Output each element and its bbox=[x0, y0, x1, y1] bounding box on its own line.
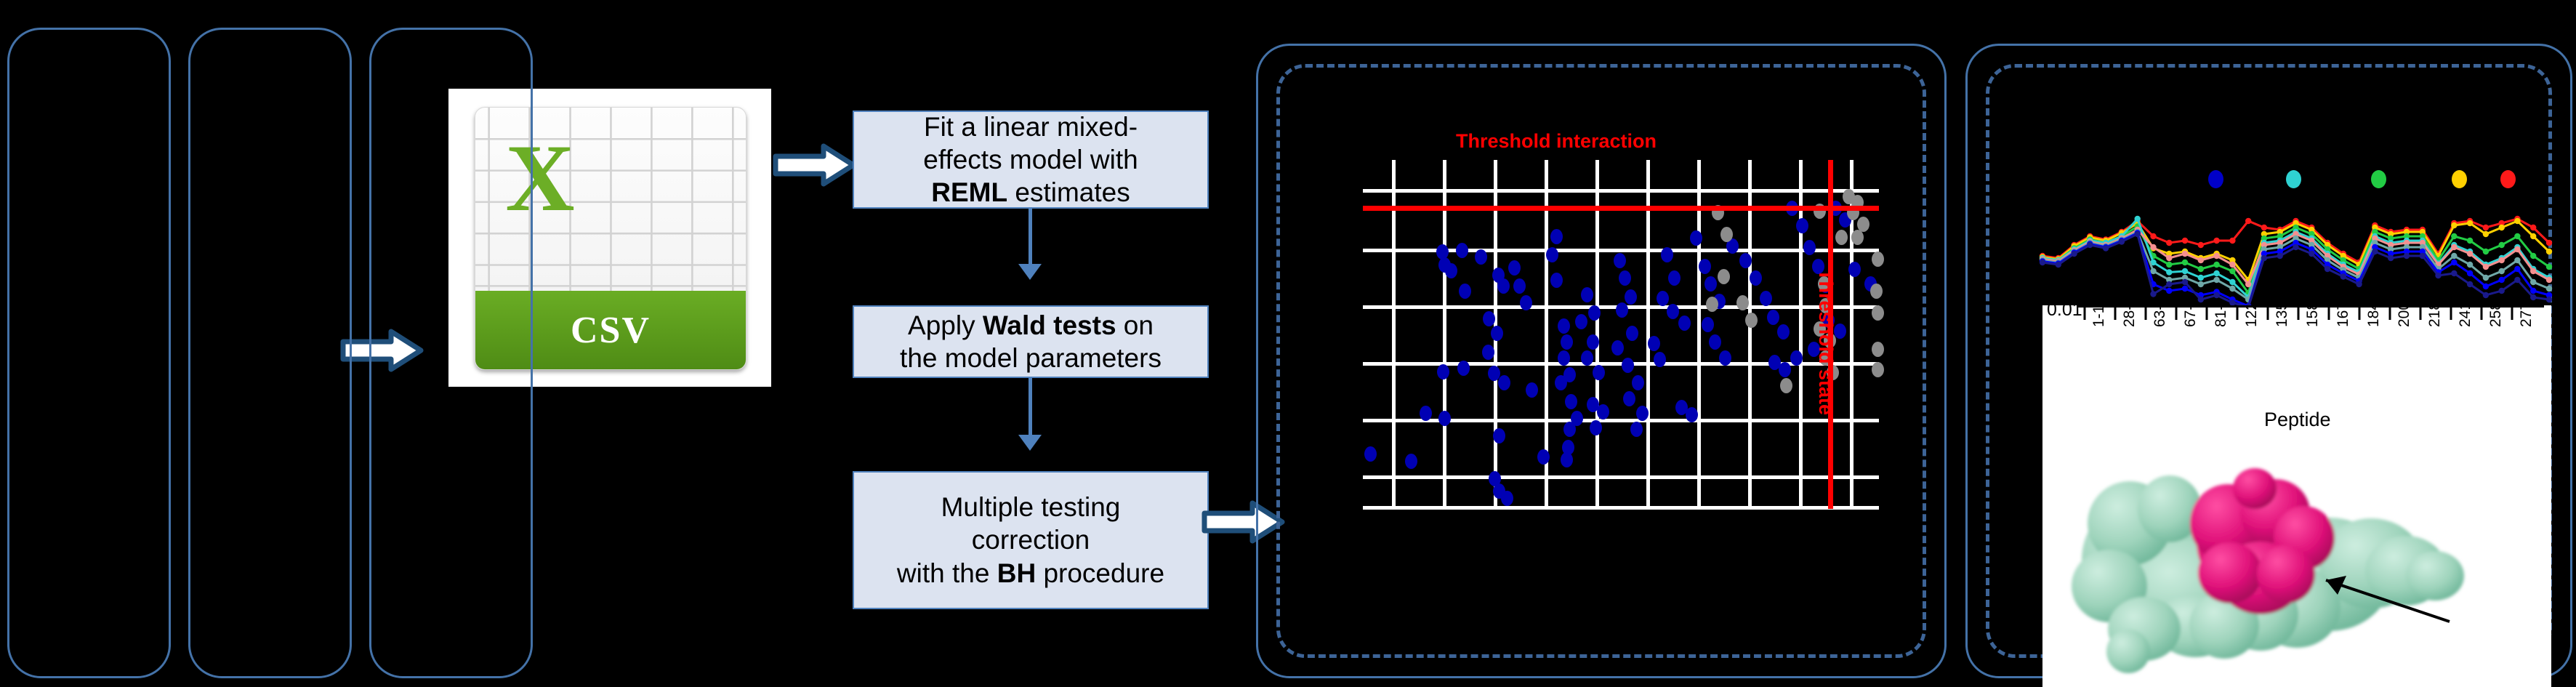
peptide-series-marker bbox=[2213, 277, 2219, 283]
peptide-series-marker bbox=[2467, 251, 2473, 257]
scatter-point bbox=[1750, 270, 1762, 286]
process-box-multiple-testing: Multiple testingcorrectionwith the BH pr… bbox=[853, 471, 1209, 609]
scatter-point bbox=[1550, 229, 1563, 244]
peptide-series-marker bbox=[2135, 216, 2141, 222]
connector-1 bbox=[1029, 209, 1032, 267]
peptide-series-marker bbox=[2103, 245, 2109, 251]
scatter-point bbox=[1508, 260, 1521, 276]
peptide-series-marker bbox=[2261, 225, 2267, 230]
peptide-series-marker bbox=[2467, 281, 2473, 287]
scatter-point bbox=[1678, 316, 1691, 331]
scatter-point bbox=[1475, 249, 1487, 265]
peptide-series-marker bbox=[2372, 249, 2378, 254]
peptide-series-marker bbox=[2198, 242, 2204, 248]
scatter-point bbox=[1581, 350, 1593, 366]
peptide-series-marker bbox=[2293, 244, 2298, 250]
scatter-point bbox=[1457, 361, 1470, 376]
peptide-series-marker bbox=[2087, 242, 2093, 248]
peptide-series-marker bbox=[2530, 294, 2536, 300]
scatter-point bbox=[1625, 289, 1637, 305]
panel-statistical-model bbox=[369, 28, 533, 678]
peptide-series-marker bbox=[2514, 266, 2520, 272]
peptide-series-marker bbox=[2546, 240, 2552, 246]
scatter-point bbox=[1526, 382, 1538, 398]
peptide-series-marker bbox=[2261, 255, 2267, 261]
peptide-series-marker bbox=[2546, 249, 2552, 254]
peptide-series-marker bbox=[2198, 275, 2204, 281]
legend-dot-series-5 bbox=[2500, 170, 2516, 188]
peptide-series-marker bbox=[2467, 238, 2473, 244]
scatter-point-ns bbox=[1872, 305, 1884, 321]
scatter-point bbox=[1513, 278, 1526, 294]
arrow-right-2 bbox=[773, 143, 856, 187]
peptide-tick-label: 218-237 bbox=[2426, 305, 2444, 327]
legend-dot-series-4 bbox=[2452, 170, 2467, 188]
peptide-tick-label: 277-284 bbox=[2518, 305, 2535, 327]
peptide-series-marker bbox=[2229, 262, 2235, 268]
peptide-series-marker bbox=[2166, 262, 2172, 268]
peptide-series-marker bbox=[2150, 291, 2156, 297]
scatter-point bbox=[1623, 391, 1635, 406]
scatter-point-ns bbox=[1780, 378, 1792, 393]
scatter-point-ns bbox=[1870, 284, 1883, 299]
peptide-series-marker bbox=[2499, 277, 2505, 283]
peptide-series-marker bbox=[2499, 225, 2505, 230]
scatter-point bbox=[1590, 420, 1602, 435]
peptide-series-marker bbox=[2467, 270, 2473, 276]
peptide-series-marker bbox=[2451, 253, 2457, 259]
scatter-point bbox=[1803, 240, 1816, 255]
peptide-series-marker bbox=[2166, 255, 2172, 261]
peptide-series-marker bbox=[2182, 260, 2188, 265]
peptide-series-marker bbox=[2119, 238, 2125, 244]
scatter-point bbox=[1790, 350, 1803, 366]
scatter-point bbox=[1438, 411, 1451, 426]
scatter-point-ns bbox=[1872, 342, 1884, 357]
peptide-series-marker bbox=[2135, 231, 2141, 237]
peptide-series-marker bbox=[2213, 262, 2219, 268]
scatter-point bbox=[1491, 326, 1503, 341]
process-box-wald-tests-text: Apply Wald tests onthe model parameters bbox=[900, 309, 1162, 374]
peptide-series-marker bbox=[2451, 244, 2457, 250]
connector-2 bbox=[1029, 378, 1032, 438]
peptide-series-marker bbox=[2166, 288, 2172, 294]
peptide-tick-label: 184-199 bbox=[2365, 305, 2383, 327]
peptide-series-marker bbox=[2182, 286, 2188, 292]
scatter-point bbox=[1437, 364, 1449, 379]
gridline-v bbox=[1697, 160, 1701, 509]
peptide-series-marker bbox=[2356, 281, 2362, 287]
peptide-series-marker bbox=[2499, 257, 2505, 263]
scatter-point-ns bbox=[1872, 252, 1884, 267]
peptide-series-marker bbox=[2483, 292, 2489, 298]
peptide-chart-svg bbox=[2003, 142, 2555, 310]
peptide-series-marker bbox=[2229, 268, 2235, 274]
peptide-tick-label: 200-214 bbox=[2396, 305, 2413, 327]
peptide-series-marker bbox=[2182, 238, 2188, 244]
scatter-point bbox=[1611, 340, 1624, 355]
peptide-series-marker bbox=[2404, 253, 2410, 259]
scatter-point bbox=[1777, 324, 1790, 340]
scatter-point bbox=[1561, 452, 1573, 467]
scatter-point bbox=[1445, 263, 1457, 278]
scatter-point bbox=[1622, 358, 1634, 373]
scatter-point bbox=[1699, 259, 1711, 274]
scatter-point bbox=[1493, 428, 1505, 443]
peptide-series-marker bbox=[2530, 288, 2536, 294]
peptide-series-marker bbox=[2483, 275, 2489, 281]
process-box-fit-model-text: Fit a linear mixed-effects model withREM… bbox=[923, 111, 1138, 209]
scatter-point bbox=[1364, 446, 1377, 462]
peptide-series-marker bbox=[2340, 273, 2346, 279]
scatter-point bbox=[1587, 334, 1599, 350]
peptide-series-marker bbox=[2451, 233, 2457, 239]
peptide-series-marker bbox=[2530, 225, 2536, 230]
scatter-point bbox=[1456, 243, 1468, 258]
panel-input-stage bbox=[7, 28, 171, 678]
peptide-series-marker bbox=[2499, 288, 2505, 294]
peptide-series-marker bbox=[2514, 257, 2520, 263]
peptide-tick-label: 81-101 bbox=[2213, 305, 2230, 327]
scatter-point bbox=[1498, 375, 1510, 390]
scatter-point bbox=[1616, 302, 1628, 318]
peptide-series-marker bbox=[2229, 238, 2235, 244]
peptide-tick-label: 1-15 bbox=[2090, 305, 2108, 327]
peptide-tick-label: 241-257 bbox=[2457, 305, 2474, 327]
scatter-threshold-state-label: Threshold state bbox=[1814, 269, 1837, 415]
scatter-point bbox=[1779, 362, 1791, 377]
connector-arrowhead-2 bbox=[1018, 435, 1042, 451]
scatter-point bbox=[1686, 407, 1698, 422]
scatter-point bbox=[1690, 230, 1702, 246]
scatter-point bbox=[1588, 305, 1601, 321]
peptide-tick-label: 167-180 bbox=[2335, 305, 2352, 327]
peptide-series-marker bbox=[2499, 242, 2505, 248]
peptide-tick-label: 158-166 bbox=[2304, 305, 2322, 327]
peptide-series-marker bbox=[2388, 255, 2394, 261]
threshold-interaction-line bbox=[1363, 206, 1879, 211]
scatter-plot-title: Threshold interaction bbox=[1456, 130, 1657, 153]
peptide-series-marker bbox=[2530, 253, 2536, 259]
scatter-point bbox=[1482, 345, 1494, 360]
scatter-point bbox=[1497, 278, 1510, 294]
protein-structure-render bbox=[2042, 443, 2551, 683]
scatter-point-ns bbox=[1745, 313, 1758, 328]
scatter-point bbox=[1501, 491, 1513, 506]
peptide-series-marker bbox=[2056, 262, 2061, 268]
scatter-point bbox=[1632, 375, 1644, 390]
peptide-tick-label: 122-129 bbox=[2243, 305, 2261, 327]
peptide-series-marker bbox=[2514, 233, 2520, 239]
scatter-point bbox=[1537, 449, 1550, 465]
scatter-point bbox=[1593, 365, 1605, 380]
peptide-series-marker bbox=[2483, 249, 2489, 254]
scatter-point-ns bbox=[1718, 269, 1730, 284]
peptide-series-marker bbox=[2213, 238, 2219, 244]
peptide-tick-label: 135-144 bbox=[2274, 305, 2291, 327]
scatter-point bbox=[1739, 253, 1752, 268]
process-box-wald-tests: Apply Wald tests onthe model parameters bbox=[853, 305, 1209, 378]
scatter-point bbox=[1555, 375, 1567, 390]
peptide-series-marker bbox=[2245, 218, 2251, 224]
scatter-point bbox=[1483, 311, 1495, 326]
peptide-series-marker bbox=[2166, 240, 2172, 246]
peptide-series-marker bbox=[2166, 269, 2172, 275]
peptide-series-marker bbox=[2546, 297, 2552, 302]
peptide-series-marker bbox=[2530, 279, 2536, 285]
scatter-point bbox=[1550, 273, 1563, 288]
peptide-series-marker bbox=[2182, 268, 2188, 274]
peptide-series-marker bbox=[2467, 220, 2473, 226]
scatter-point-ns bbox=[1851, 230, 1864, 245]
scatter-point bbox=[1796, 218, 1808, 233]
peptide-series-marker bbox=[2198, 266, 2204, 272]
peptide-series-marker bbox=[2182, 279, 2188, 285]
scatter-point bbox=[1546, 247, 1558, 262]
legend-dot-series-2 bbox=[2286, 170, 2301, 188]
scatter-point bbox=[1563, 422, 1576, 437]
scatter-point bbox=[1668, 270, 1681, 286]
peptide-series-marker bbox=[2213, 292, 2219, 298]
peptide-series-marker bbox=[2483, 225, 2489, 230]
peptide-tick-label: 258-266 bbox=[2487, 305, 2505, 327]
gridline-v bbox=[1646, 160, 1650, 509]
peptide-series-marker bbox=[2546, 286, 2552, 292]
peptide-series-marker bbox=[2420, 253, 2426, 259]
scatter-point bbox=[1704, 276, 1717, 292]
scatter-point bbox=[1654, 352, 1666, 367]
peptide-series-marker bbox=[2499, 268, 2505, 274]
peptide-series-marker bbox=[2483, 284, 2489, 289]
scatter-point bbox=[1614, 253, 1626, 268]
peptide-axis-and-protein-card: 0.01 1-1528-4463-7367-7581-101122-129135… bbox=[2042, 305, 2551, 687]
scatter-point bbox=[1558, 350, 1570, 366]
peptide-series-marker bbox=[2514, 246, 2520, 252]
scatter-point-ns bbox=[1736, 295, 1749, 310]
scatter-point bbox=[1561, 334, 1573, 350]
process-box-multiple-testing-text: Multiple testingcorrectionwith the BH pr… bbox=[897, 491, 1164, 589]
peptide-series-marker bbox=[2198, 257, 2204, 263]
peptide-series-marker bbox=[2198, 297, 2204, 302]
peptide-series-marker bbox=[2229, 279, 2235, 285]
scatter-point bbox=[1558, 318, 1570, 334]
scatter-point-ns bbox=[1706, 297, 1718, 312]
peptide-series-marker bbox=[2150, 233, 2156, 239]
gridline-v bbox=[1392, 160, 1396, 509]
scatter-point bbox=[1630, 422, 1643, 437]
peptide-tick-label: 67-75 bbox=[2182, 305, 2199, 327]
scatter-point bbox=[1619, 270, 1631, 286]
scatter-point bbox=[1767, 310, 1779, 325]
scatter-point bbox=[1848, 262, 1861, 277]
peptide-series-marker bbox=[2451, 222, 2457, 228]
gridline-v bbox=[1595, 160, 1599, 509]
panel-data-file bbox=[188, 28, 352, 678]
peptide-series-marker bbox=[2514, 218, 2520, 224]
peptide-axis-title: Peptide bbox=[2264, 409, 2331, 431]
peptide-series-marker bbox=[2483, 264, 2489, 270]
scatter-point-ns bbox=[1835, 230, 1848, 245]
peptide-series-marker bbox=[2483, 231, 2489, 237]
peptide-line-chart bbox=[2003, 142, 2555, 310]
peptide-series-marker bbox=[2467, 262, 2473, 268]
peptide-series-marker bbox=[2040, 260, 2045, 265]
peptide-series-marker bbox=[2277, 253, 2283, 259]
scatter-point bbox=[1657, 291, 1669, 306]
legend-dot-series-3 bbox=[2371, 170, 2386, 188]
csv-caption: CSV bbox=[571, 309, 651, 352]
scatter-point bbox=[1648, 336, 1660, 351]
scatter-point bbox=[1702, 317, 1714, 332]
scatter-point bbox=[1575, 314, 1587, 329]
peptide-series-marker bbox=[2166, 281, 2172, 287]
legend-dot-series-1 bbox=[2208, 170, 2223, 188]
gridline-v bbox=[1799, 160, 1803, 509]
peptide-series-marker bbox=[2325, 266, 2330, 272]
peptide-series-marker bbox=[2309, 251, 2314, 257]
peptide-series-marker bbox=[2514, 277, 2520, 283]
scatter-point-ns bbox=[1872, 362, 1884, 377]
peptide-series-marker bbox=[2530, 268, 2536, 274]
peptide-series-marker bbox=[2435, 273, 2441, 278]
peptide-series-marker bbox=[2530, 233, 2536, 239]
scatter-point bbox=[1661, 247, 1673, 262]
scatter-point-ns bbox=[1720, 227, 1733, 242]
peptide-series-marker bbox=[2229, 286, 2235, 292]
peptide-series-marker bbox=[2182, 251, 2188, 257]
process-box-fit-model: Fit a linear mixed-effects model withREM… bbox=[853, 111, 1209, 209]
peptide-series-marker bbox=[2451, 270, 2457, 276]
scatter-point bbox=[1626, 326, 1638, 341]
scatter-point bbox=[1565, 394, 1577, 409]
peptide-series-marker bbox=[2213, 270, 2219, 276]
scatter-point bbox=[1719, 350, 1731, 366]
scatter-point bbox=[1760, 291, 1772, 306]
peptide-series-marker bbox=[2071, 251, 2077, 257]
connector-arrowhead-1 bbox=[1018, 264, 1042, 280]
peptide-series-marker bbox=[2451, 260, 2457, 265]
peptide-xaxis bbox=[2042, 305, 2551, 333]
scatter-point bbox=[1709, 334, 1721, 350]
scatter-point bbox=[1459, 284, 1471, 299]
peptide-series-marker bbox=[2245, 281, 2251, 287]
scatter-point bbox=[1405, 454, 1417, 469]
peptide-tick-label: 28-44 bbox=[2121, 305, 2138, 327]
peptide-series-marker bbox=[2150, 268, 2156, 274]
peptide-series-marker bbox=[2546, 277, 2552, 283]
scatter-point bbox=[1636, 406, 1649, 421]
peptide-series-marker bbox=[2150, 244, 2156, 250]
peptide-series-marker bbox=[2198, 281, 2204, 287]
peptide-series-marker bbox=[2546, 264, 2552, 270]
scatter-threshold-plot: Threshold interaction Threshold state Po… bbox=[1363, 160, 1879, 509]
peptide-tick-label: 63-73 bbox=[2152, 305, 2169, 327]
peptide-series-marker bbox=[2213, 253, 2219, 259]
scatter-point bbox=[1667, 304, 1679, 319]
scatter-point bbox=[1581, 287, 1593, 302]
scatter-point bbox=[1597, 404, 1609, 419]
gridline-v bbox=[1748, 160, 1752, 509]
scatter-point bbox=[1520, 295, 1532, 310]
gridline-v bbox=[1443, 160, 1446, 509]
scatter-point bbox=[1420, 406, 1432, 421]
